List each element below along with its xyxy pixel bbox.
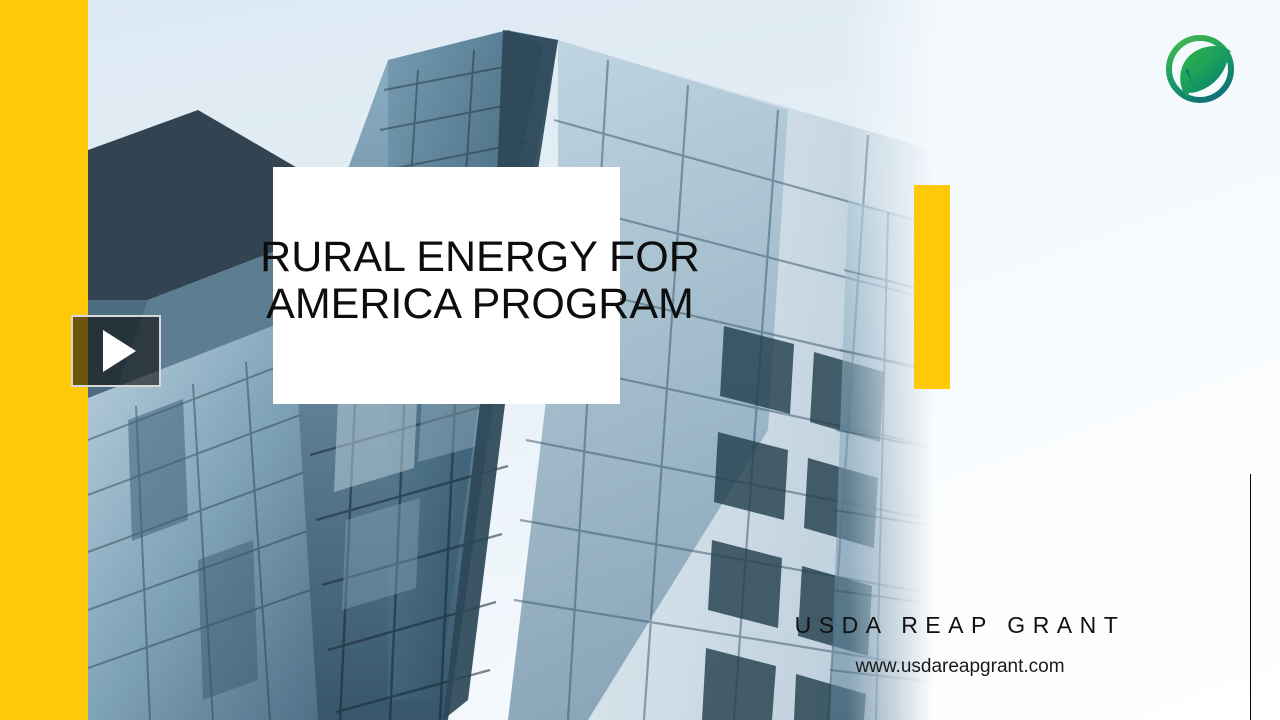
leaf-circle-icon <box>1161 30 1239 108</box>
brand-name: USDA REAP GRANT <box>700 612 1220 639</box>
play-icon <box>103 330 136 372</box>
yellow-accent-bar <box>914 185 950 389</box>
presentation-slide: RURAL ENERGY FOR AMERICA PROGRAM <box>0 0 1280 720</box>
brand-block: USDA REAP GRANT www.usdareapgrant.com <box>700 612 1220 678</box>
leaf-circle-logo <box>1161 30 1239 108</box>
right-vertical-rule <box>1250 474 1251 720</box>
brand-website-url[interactable]: www.usdareapgrant.com <box>700 656 1220 678</box>
video-play-button[interactable] <box>71 315 161 387</box>
slide-title: RURAL ENERGY FOR AMERICA PROGRAM <box>170 234 790 328</box>
